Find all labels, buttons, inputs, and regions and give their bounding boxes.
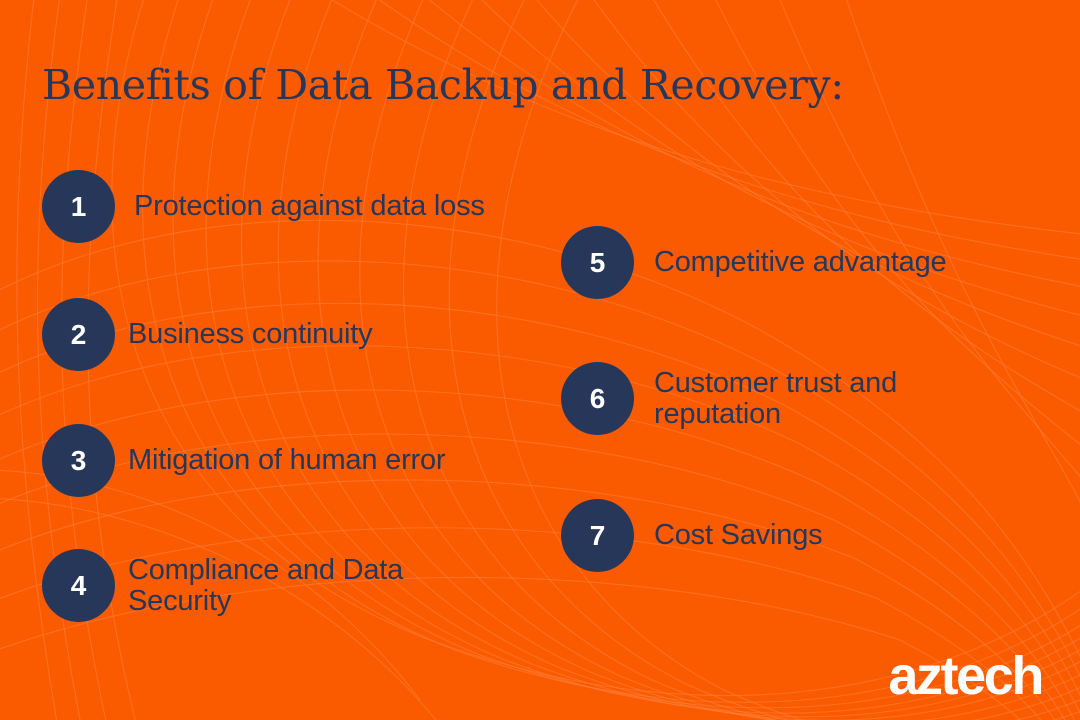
benefit-label-5: Competitive advantage: [654, 247, 946, 277]
benefit-item-1: 1 Protection against data loss: [42, 170, 485, 243]
benefit-number-badge-1: 1: [42, 170, 115, 243]
benefit-label-7: Cost Savings: [654, 520, 822, 550]
benefit-label-4: Compliance and Data Security: [128, 555, 458, 615]
benefit-number-badge-5: 5: [561, 226, 634, 299]
benefit-item-7: 7 Cost Savings: [561, 499, 822, 572]
benefit-number-badge-6: 6: [561, 362, 634, 435]
benefit-label-2: Business continuity: [128, 319, 372, 349]
benefit-number-badge-2: 2: [42, 298, 115, 371]
page-title: Benefits of Data Backup and Recovery:: [42, 63, 844, 108]
benefit-item-2: 2 Business continuity: [42, 298, 372, 371]
benefit-item-4: 4 Compliance and Data Security: [42, 549, 462, 622]
benefit-label-6: Customer trust and reputation: [654, 368, 974, 428]
benefit-number-badge-3: 3: [42, 424, 115, 497]
benefit-label-1: Protection against data loss: [134, 191, 485, 221]
benefit-item-5: 5 Competitive advantage: [561, 226, 946, 299]
aztech-logo: aztech: [888, 649, 1042, 703]
benefit-item-6: 6 Customer trust and reputation: [561, 362, 991, 435]
benefit-number-badge-7: 7: [561, 499, 634, 572]
benefit-number-badge-4: 4: [42, 549, 115, 622]
slide-canvas: Benefits of Data Backup and Recovery: 1 …: [0, 0, 1080, 720]
benefit-item-3: 3 Mitigation of human error: [42, 424, 445, 497]
benefit-label-3: Mitigation of human error: [128, 445, 445, 475]
